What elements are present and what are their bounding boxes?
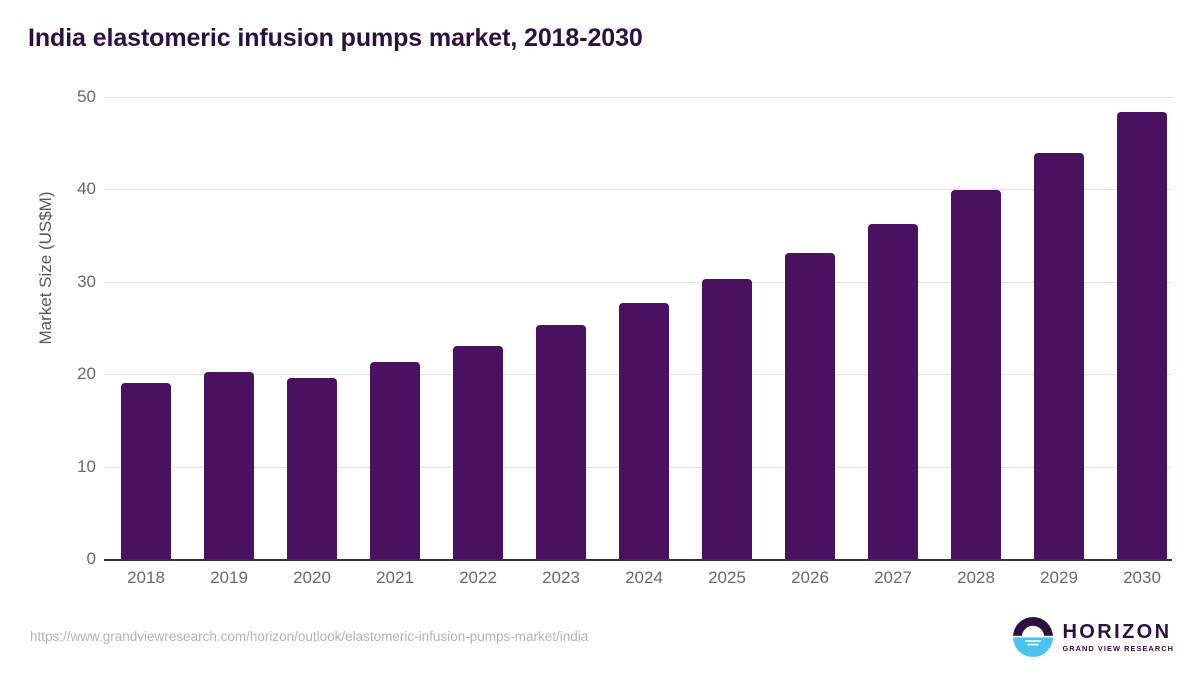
x-axis-tick-label: 2025 — [685, 568, 769, 588]
x-axis-tick-label: 2030 — [1100, 568, 1184, 588]
bar-2029[interactable] — [1034, 153, 1084, 559]
gridline — [104, 97, 1172, 98]
chart-page: India elastomeric infusion pumps market,… — [0, 0, 1200, 675]
gridline — [104, 189, 1172, 190]
y-axis-tick-label: 0 — [36, 549, 96, 569]
y-axis-tick-label: 10 — [36, 457, 96, 477]
bar-2021[interactable] — [370, 362, 420, 559]
horizon-logo: HORIZON GRAND VIEW RESEARCH — [1013, 617, 1174, 657]
bar-2026[interactable] — [785, 253, 835, 559]
horizon-logo-text: HORIZON GRAND VIEW RESEARCH — [1062, 622, 1174, 652]
y-axis-tick-label: 50 — [36, 87, 96, 107]
x-axis-tick-label: 2029 — [1017, 568, 1101, 588]
bar-2025[interactable] — [702, 279, 752, 559]
bar-2024[interactable] — [619, 303, 669, 559]
bar-2022[interactable] — [453, 346, 503, 559]
x-axis-tick-label: 2026 — [768, 568, 852, 588]
x-axis-tick-label: 2027 — [851, 568, 935, 588]
x-axis-tick-label: 2020 — [270, 568, 354, 588]
logo-wordmark: HORIZON — [1062, 622, 1174, 642]
x-axis-tick-label: 2022 — [436, 568, 520, 588]
x-axis-tick-label: 2023 — [519, 568, 603, 588]
bar-2030[interactable] — [1117, 112, 1167, 559]
x-axis-tick-label: 2019 — [187, 568, 271, 588]
bar-2023[interactable] — [536, 325, 586, 559]
bar-2018[interactable] — [121, 383, 171, 559]
source-url[interactable]: https://www.grandviewresearch.com/horizo… — [30, 629, 588, 644]
logo-tagline: GRAND VIEW RESEARCH — [1062, 645, 1174, 652]
gridline — [104, 282, 1172, 283]
x-axis-tick-label: 2018 — [104, 568, 188, 588]
bar-2020[interactable] — [287, 378, 337, 559]
y-axis-tick-label: 20 — [36, 364, 96, 384]
chart-plot-area: Market Size (US$M) 01020304050 201820192… — [0, 0, 1200, 675]
y-axis-tick-label: 40 — [36, 179, 96, 199]
bar-2028[interactable] — [951, 190, 1001, 559]
horizon-logo-icon — [1013, 617, 1053, 657]
bar-2027[interactable] — [868, 224, 918, 559]
bar-2019[interactable] — [204, 372, 254, 559]
x-axis-tick-label: 2028 — [934, 568, 1018, 588]
x-axis-line — [104, 559, 1172, 561]
y-axis-tick-label: 30 — [36, 272, 96, 292]
x-axis-tick-label: 2024 — [602, 568, 686, 588]
x-axis-tick-label: 2021 — [353, 568, 437, 588]
